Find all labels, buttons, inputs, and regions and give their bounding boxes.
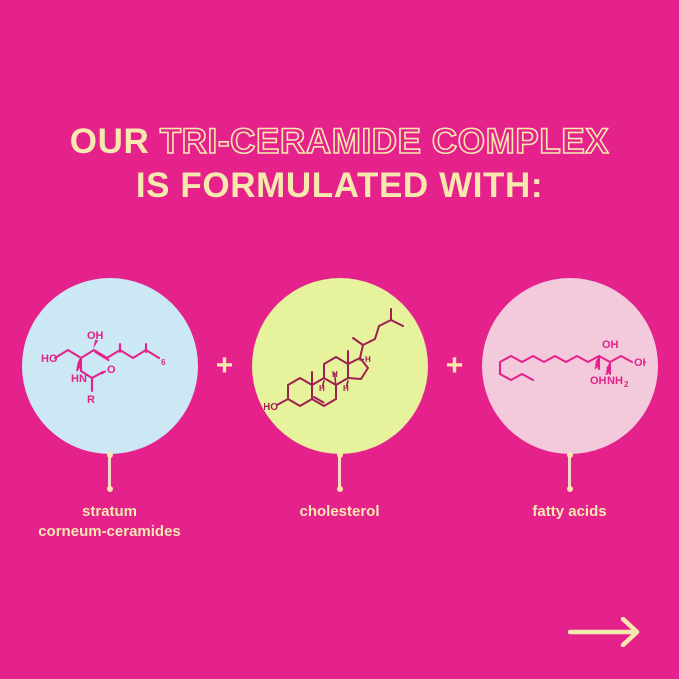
- arrow-right-icon: [567, 617, 643, 647]
- title-line-2: IS FORMULATED WITH:: [0, 168, 679, 203]
- label-cell-cholesterol: cholesterol: [252, 454, 428, 522]
- atom-label-oh-end: OH: [634, 357, 646, 369]
- atom-label-r: R: [87, 394, 95, 406]
- atom-label-oh-bottom: OH: [590, 375, 607, 387]
- plus-sign-2: +: [428, 351, 482, 381]
- connector-line-ceramide: [108, 454, 111, 490]
- title-word-complex: TRI-CERAMIDE COMPLEX: [160, 122, 610, 161]
- ingredient-fatty-acids[interactable]: OH OH OH NH 2: [482, 278, 658, 454]
- ingredient-circle-ceramide: HO OH HN O R 6: [22, 278, 198, 454]
- ingredient-labels-row: stratum corneum-ceramides cholesterol fa…: [0, 454, 679, 543]
- ceramide-skeletal-formula: HO OH HN O R 6: [35, 311, 185, 421]
- atom-label-h-4: H: [365, 355, 371, 364]
- atom-label-nh2-sub: 2: [624, 380, 629, 389]
- atom-label-6: 6: [161, 358, 166, 367]
- atom-label-nh2: NH: [607, 375, 623, 387]
- page-title: OUR TRI-CERAMIDE COMPLEX IS FORMULATED W…: [0, 124, 679, 212]
- ingredient-label-ceramide: stratum corneum-ceramides: [38, 502, 181, 543]
- atom-label-oh-top: OH: [602, 339, 619, 351]
- atom-label-oh: OH: [87, 330, 104, 342]
- ingredient-stratum-corneum-ceramides[interactable]: HO OH HN O R 6: [22, 278, 198, 454]
- plus-sign-1: +: [198, 351, 252, 381]
- atom-label-hn: HN: [71, 373, 87, 385]
- ingredient-circle-fatty-acids: OH OH OH NH 2: [482, 278, 658, 454]
- atom-label-o: O: [107, 364, 116, 376]
- atom-label-ho: HO: [264, 402, 278, 413]
- ingredient-row: HO OH HN O R 6 +: [0, 278, 679, 454]
- ingredient-circle-cholesterol: HO H H H H: [252, 278, 428, 454]
- next-arrow-button[interactable]: [567, 617, 643, 647]
- label-cell-fatty-acids: fatty acids: [482, 454, 658, 522]
- ingredient-label-fatty-acids: fatty acids: [532, 502, 606, 522]
- label-cell-ceramide: stratum corneum-ceramides: [22, 454, 198, 543]
- connector-line-cholesterol: [338, 454, 341, 490]
- cholesterol-skeletal-formula: HO H H H H: [264, 307, 416, 425]
- atom-label-ho: HO: [41, 353, 58, 365]
- ingredient-label-cholesterol: cholesterol: [299, 502, 379, 522]
- title-line-1: OUR TRI-CERAMIDE COMPLEX: [0, 124, 679, 159]
- title-word-our: OUR: [70, 122, 150, 161]
- ingredient-cholesterol[interactable]: HO H H H H: [252, 278, 428, 454]
- connector-line-fatty-acids: [568, 454, 571, 490]
- phytosphingosine-skeletal-formula: OH OH OH NH 2: [494, 312, 646, 420]
